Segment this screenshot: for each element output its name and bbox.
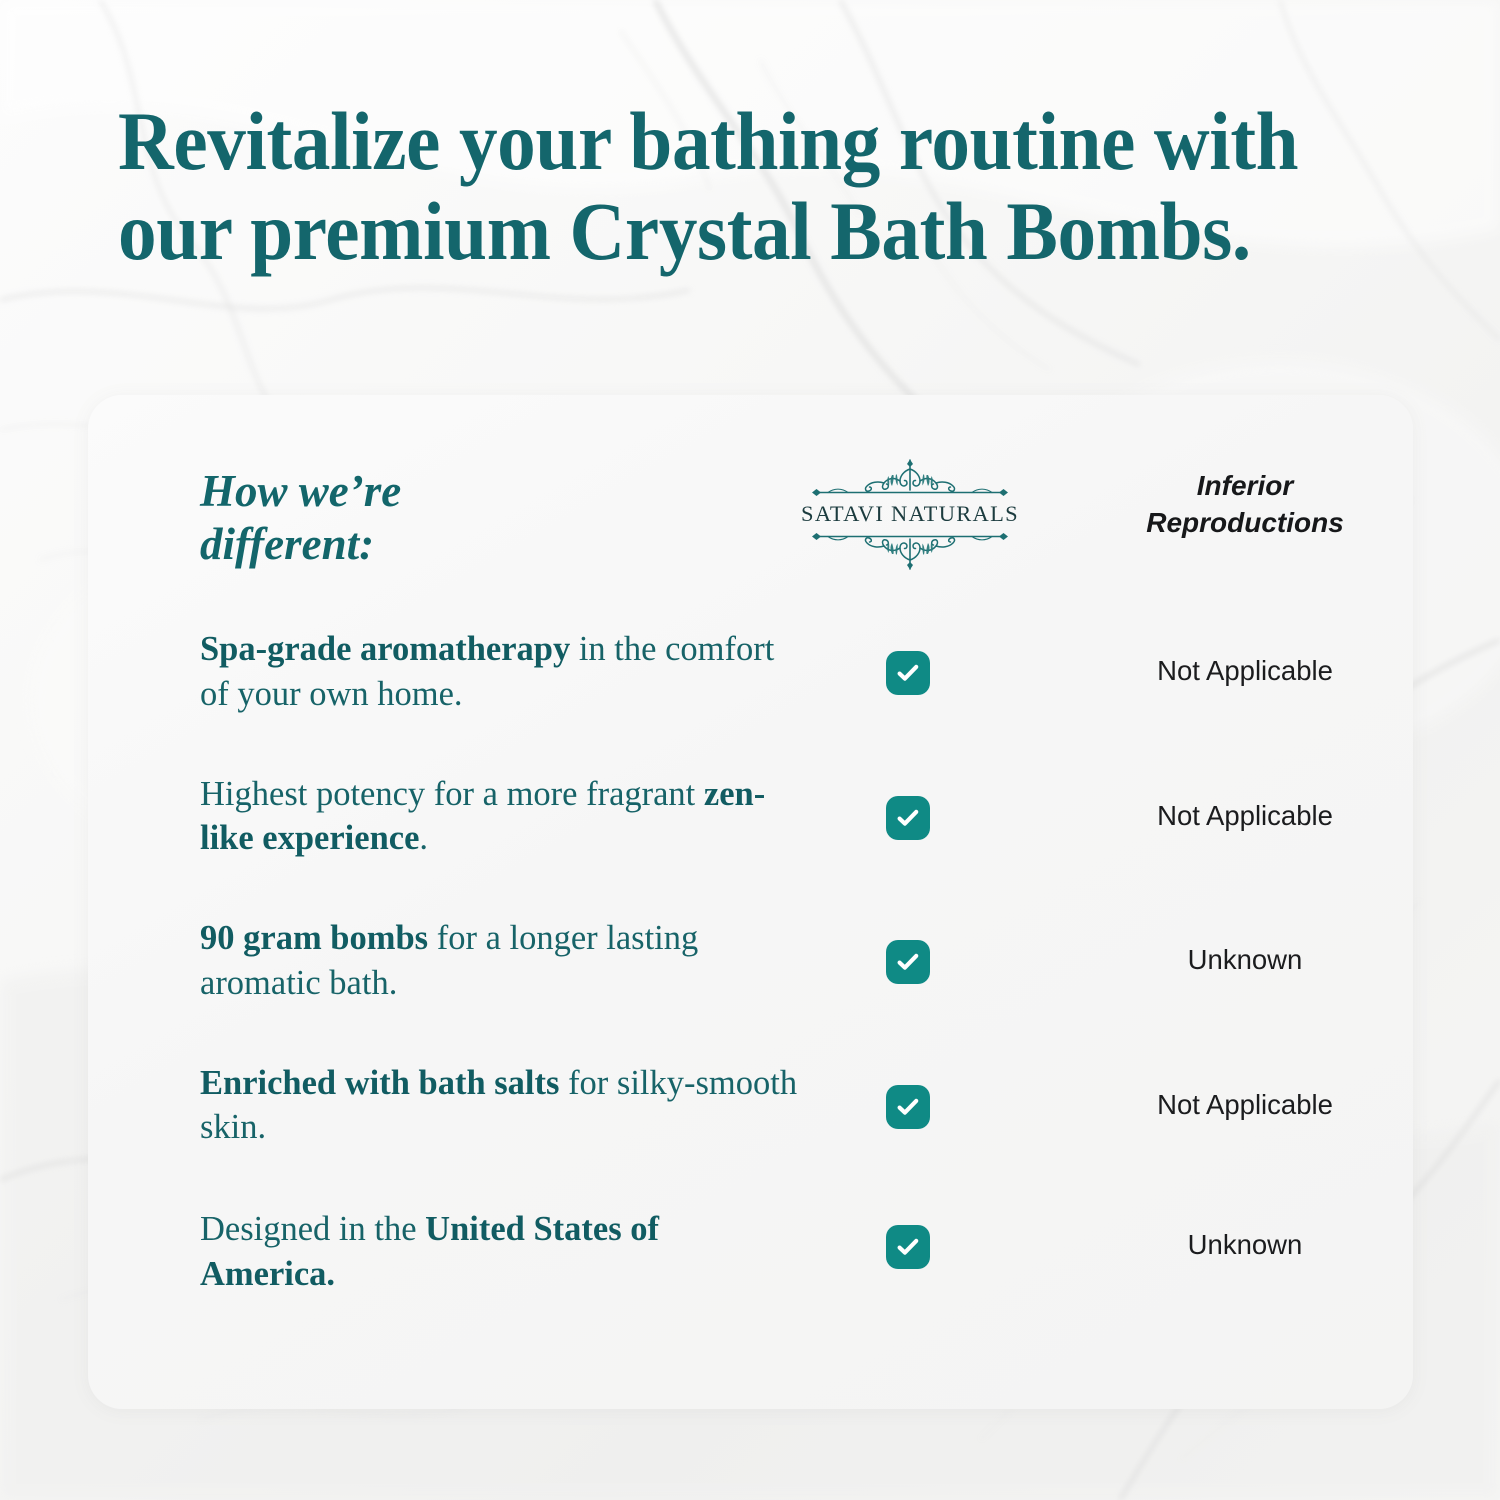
satavi-column-cell [843,1225,973,1269]
feature-description: Spa-grade aromatherapy in the comfort of… [200,627,800,717]
table-row: Designed in the United States of America… [88,1173,1413,1318]
satavi-column-cell [843,796,973,840]
inferior-reproductions-title: Inferior Reproductions [1090,467,1400,541]
inferior-column-value: Unknown [1090,1231,1400,1259]
feature-description: Highest potency for a more fragrant zen-… [200,772,800,862]
brand-name: SATAVI NATURALS [800,502,1020,527]
feature-description: Designed in the United States of America… [200,1207,800,1297]
comparison-card: How we’re different: [88,395,1413,1409]
inferior-column-value: Not Applicable [1090,802,1400,830]
satavi-column-cell [843,940,973,984]
check-mark-icon [886,1225,930,1269]
check-mark-icon [886,940,930,984]
floral-flourish-ornament-icon [800,527,1020,572]
table-row: 90 gram bombs for a longer lasting aroma… [88,884,1413,1029]
inferior-column-value: Not Applicable [1090,657,1400,685]
how-we-are-different-title: How we’re different: [200,465,530,571]
feature-description: Enriched with bath salts for silky-smoot… [200,1061,800,1151]
check-mark-icon [886,796,930,840]
table-row: Spa-grade aromatherapy in the comfort of… [88,595,1413,740]
check-mark-icon [886,1085,930,1129]
page-headline: Revitalize your bathing routine with our… [118,96,1308,277]
inferior-column-value: Not Applicable [1090,1091,1400,1119]
feature-description: 90 gram bombs for a longer lasting aroma… [200,916,800,1006]
inferior-column-value: Unknown [1090,946,1400,974]
comparison-table-body: Spa-grade aromatherapy in the comfort of… [88,595,1413,1318]
table-row: Highest potency for a more fragrant zen-… [88,740,1413,885]
floral-flourish-ornament-icon [800,457,1020,502]
satavi-column-cell [843,1085,973,1129]
check-mark-icon [886,651,930,695]
table-row: Enriched with bath salts for silky-smoot… [88,1029,1413,1174]
satavi-column-cell [843,651,973,695]
comparison-table-header: How we’re different: [88,395,1413,595]
satavi-naturals-logo: SATAVI NATURALS [800,457,1020,572]
